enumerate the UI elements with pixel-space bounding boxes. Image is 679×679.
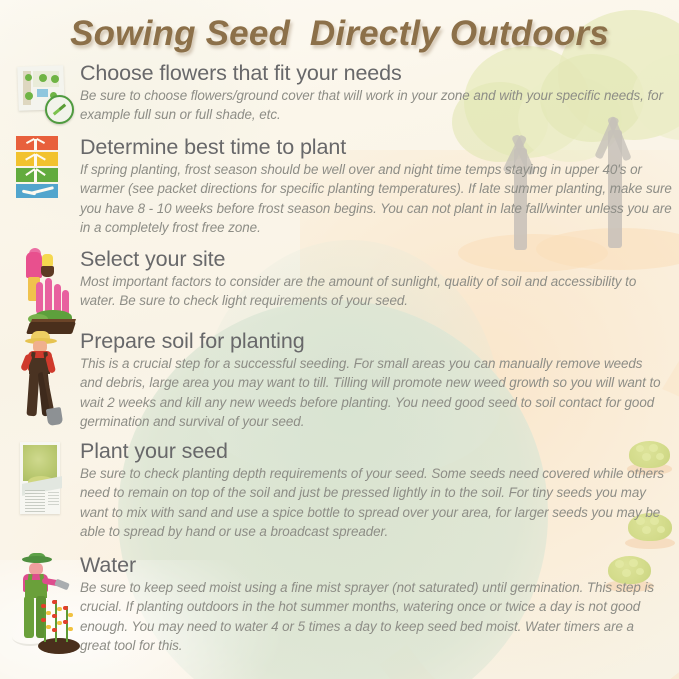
garden-plan-compass-icon bbox=[14, 62, 76, 122]
section-heading: Select your site bbox=[80, 248, 654, 271]
section-body: Be sure to choose flowers/ground cover t… bbox=[80, 86, 666, 125]
section-choose-flowers: Choose flowers that fit your needs Be su… bbox=[14, 62, 666, 125]
section-body: If spring planting, frost season should … bbox=[80, 160, 676, 238]
section-body: Be sure to keep seed moist using a fine … bbox=[80, 578, 662, 656]
section-plant-seed: Plant your seed Be sure to check plantin… bbox=[14, 440, 666, 542]
section-water: Water Be sure to keep seed moist using a… bbox=[10, 554, 662, 658]
section-best-time: Determine best time to plant If spring p… bbox=[14, 136, 676, 238]
section-heading: Determine best time to plant bbox=[80, 136, 676, 159]
section-body: Be sure to check planting depth requirem… bbox=[80, 464, 666, 542]
section-select-site: Select your site Most important factors … bbox=[14, 248, 654, 336]
section-heading: Water bbox=[80, 554, 662, 577]
section-body: This is a crucial step for a successful … bbox=[80, 354, 666, 432]
section-heading: Prepare soil for planting bbox=[80, 330, 666, 353]
infographic-poster: Sowing Seed Directly Outdoors bbox=[0, 0, 679, 679]
gardener-with-planter-icon bbox=[14, 248, 76, 336]
sections-list: Choose flowers that fit your needs Be su… bbox=[0, 0, 679, 679]
section-heading: Plant your seed bbox=[80, 440, 666, 463]
page-title: Sowing Seed Directly Outdoors bbox=[0, 14, 679, 54]
gardener-watering-icon bbox=[10, 554, 76, 658]
gardener-with-shovel-icon bbox=[14, 330, 76, 426]
four-seasons-icon bbox=[14, 136, 76, 200]
section-prepare-soil: Prepare soil for planting This is a cruc… bbox=[14, 330, 666, 432]
section-heading: Choose flowers that fit your needs bbox=[80, 62, 666, 85]
section-body: Most important factors to consider are t… bbox=[80, 272, 654, 311]
seed-packet-icon bbox=[14, 440, 76, 520]
